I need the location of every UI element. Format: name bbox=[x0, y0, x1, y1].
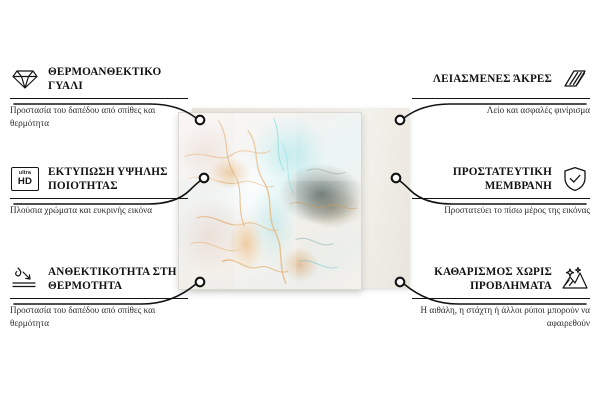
feature-header: ultra HD ΕΚΤΥΠΩΣΗ ΥΨΗΛΗΣ ΠΟΙΟΤΗΤΑΣ bbox=[10, 164, 188, 194]
feature-divider bbox=[10, 98, 188, 99]
infographic-page: ΘΕΡΜΟΑΝΘΕΚΤΙΚΟ ΓΥΑΛΙ Προστασία του δαπέδ… bbox=[0, 0, 600, 400]
feature-title: ΚΑΘΑΡΙΣΜΟΣ ΧΩΡΙΣ ΠΡΟΒΛΗΜΑΤΑ bbox=[412, 265, 552, 294]
feature-title: ΠΡΟΣΤΑΤΕΥΤΙΚΗ ΜΕΜΒΡΑΝΗ bbox=[412, 165, 552, 194]
shield-check-icon bbox=[560, 165, 590, 193]
feature-title: ΘΕΡΜΟΑΝΘΕΚΤΙΚΟ ΓΥΑΛΙ bbox=[48, 65, 188, 94]
feature-divider bbox=[10, 198, 188, 199]
feature-heat-resistance: ΑΝΘΕΚΤΙΚΟΤΗΤΑ ΣΤΗ ΘΕΡΜΟΤΗΤΑ Προστασία το… bbox=[10, 264, 188, 330]
feature-header: ΠΡΟΣΤΑΤΕΥΤΙΚΗ ΜΕΜΒΡΑΝΗ bbox=[412, 164, 590, 194]
feature-divider bbox=[10, 298, 188, 299]
glass-splashback-panel bbox=[178, 112, 362, 290]
feature-description: Προστατεύει το πίσω μέρος της εικόνας bbox=[412, 204, 590, 217]
feature-title: ΑΝΘΕΚΤΙΚΟΤΗΤΑ ΣΤΗ ΘΕΡΜΟΤΗΤΑ bbox=[48, 265, 188, 294]
glass-sheen bbox=[179, 113, 361, 289]
feature-heat-resistant-glass: ΘΕΡΜΟΑΝΘΕΚΤΙΚΟ ΓΥΑΛΙ Προστασία του δαπέδ… bbox=[10, 64, 188, 130]
feature-description: Προστασία του δαπέδου από σπίθες και θερ… bbox=[10, 104, 188, 130]
feature-title: ΕΚΤΥΠΩΣΗ ΥΨΗΛΗΣ ΠΟΙΟΤΗΤΑΣ bbox=[48, 165, 188, 194]
feature-description: Η αιθάλη, η στάχτη ή άλλοι ρύποι μπορούν… bbox=[412, 304, 590, 330]
feature-description: Προστασία του δαπέδου από σπίθες και θερ… bbox=[10, 304, 188, 330]
ultra-hd-icon: ultra HD bbox=[10, 165, 40, 193]
feature-description: Πλούσια χρώματα και ευκρινής εικόνα bbox=[10, 204, 188, 217]
ultra-hd-bottom-label: HD bbox=[18, 177, 32, 187]
feature-header: ΚΑΘΑΡΙΣΜΟΣ ΧΩΡΙΣ ΠΡΟΒΛΗΜΑΤΑ bbox=[412, 264, 590, 294]
heat-resistance-icon bbox=[10, 265, 40, 293]
feature-easy-cleaning: ΚΑΘΑΡΙΣΜΟΣ ΧΩΡΙΣ ΠΡΟΒΛΗΜΑΤΑ Η αιθάλη, η … bbox=[412, 264, 590, 330]
feature-description: Λείο και ασφαλές φινίρισμα bbox=[412, 104, 590, 117]
easy-clean-icon bbox=[560, 265, 590, 293]
feature-title: ΛΕΙΑΣΜΕΝΕΣ ΆΚΡΕΣ bbox=[412, 72, 552, 86]
feature-header: ΘΕΡΜΟΑΝΘΕΚΤΙΚΟ ΓΥΑΛΙ bbox=[10, 64, 188, 94]
feature-header: ΑΝΘΕΚΤΙΚΟΤΗΤΑ ΣΤΗ ΘΕΡΜΟΤΗΤΑ bbox=[10, 264, 188, 294]
feature-high-quality-print: ultra HD ΕΚΤΥΠΩΣΗ ΥΨΗΛΗΣ ΠΟΙΟΤΗΤΑΣ Πλούσ… bbox=[10, 164, 188, 217]
product-image bbox=[178, 108, 410, 294]
feature-protective-film: ΠΡΟΣΤΑΤΕΥΤΙΚΗ ΜΕΜΒΡΑΝΗ Προστατεύει το πί… bbox=[412, 164, 590, 217]
feature-polished-edges: ΛΕΙΑΣΜΕΝΕΣ ΆΚΡΕΣ Λείο και ασφαλές φινίρι… bbox=[412, 64, 590, 117]
feature-divider bbox=[412, 198, 590, 199]
feature-divider bbox=[412, 298, 590, 299]
diamond-icon bbox=[10, 65, 40, 93]
feature-divider bbox=[412, 98, 590, 99]
feature-header: ΛΕΙΑΣΜΕΝΕΣ ΆΚΡΕΣ bbox=[412, 64, 590, 94]
polished-edges-icon bbox=[560, 65, 590, 93]
